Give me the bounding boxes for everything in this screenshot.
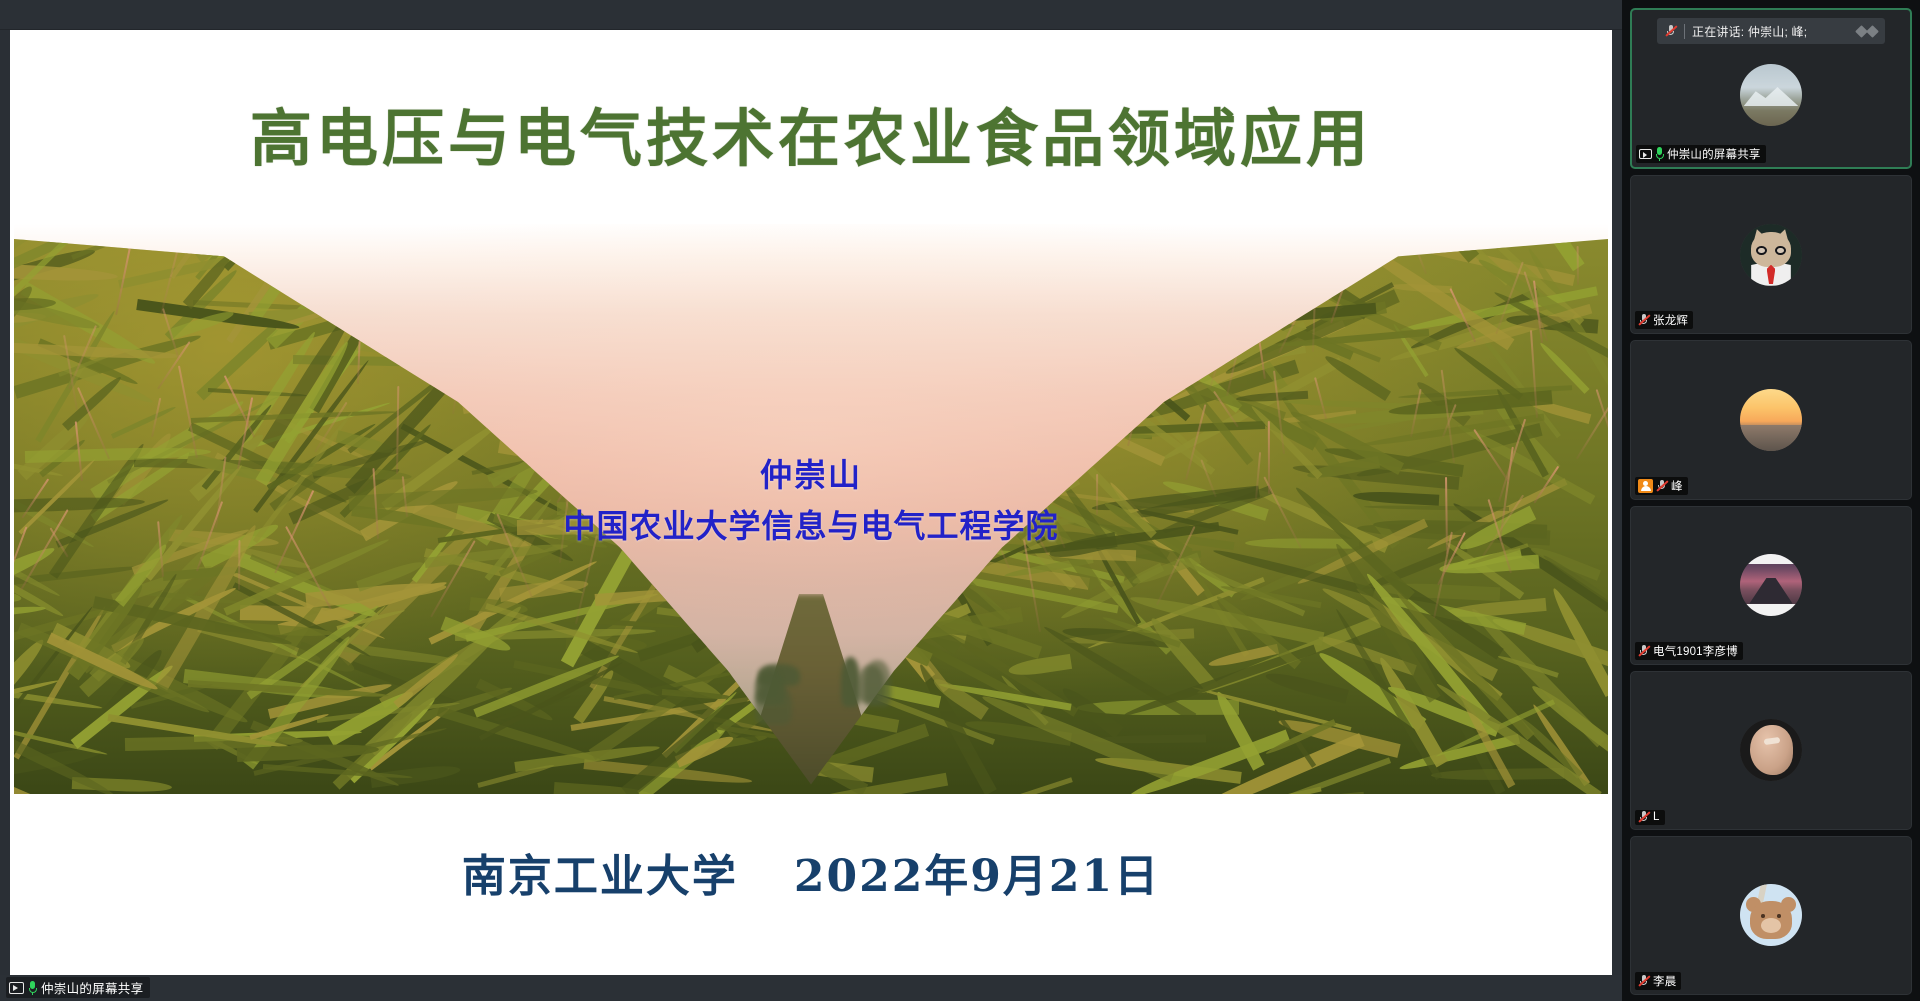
screenshare-icon <box>9 982 24 994</box>
slide-footer-place: 南京工业大学 <box>462 851 738 902</box>
mic-on-icon <box>1655 147 1664 161</box>
participant-tile-lichen[interactable]: 李晨 <box>1630 836 1912 995</box>
corn-tassel <box>1576 246 1578 285</box>
presenter-name: 仲崇山 <box>14 450 1608 496</box>
share-bottom-bar: 仲崇山的屏幕共享 <box>0 975 1622 1001</box>
mic-muted-icon <box>1638 975 1650 988</box>
mic-muted-icon <box>1638 314 1650 327</box>
banner-divider <box>1684 24 1685 39</box>
avatar <box>1740 389 1802 451</box>
participant-name: 电气1901李彦博 <box>1653 643 1738 659</box>
corn-leaf <box>1264 669 1349 704</box>
corn-tassel <box>1314 377 1327 419</box>
participant-nameplate: L <box>1635 810 1665 825</box>
avatar <box>1740 554 1802 616</box>
slide-footer-date: 2022年9月21日 <box>794 851 1160 902</box>
participant-name: 张龙辉 <box>1653 312 1688 328</box>
corn-leaf <box>1008 654 1073 678</box>
presenter-organization: 中国农业大学信息与电气工程学院 <box>14 501 1608 547</box>
host-icon <box>1638 479 1653 493</box>
corn-tassel <box>238 540 240 590</box>
mic-muted-icon <box>1656 479 1668 492</box>
active-speaker-label: 正在讲话: 仲崇山; 峰; <box>1692 23 1807 40</box>
teddy-bear-avatar <box>1740 884 1802 946</box>
avatar <box>1740 884 1802 946</box>
corn-leaf <box>1322 352 1391 401</box>
presentation-slide: 高电压与电气技术在农业食品领域应用 仲崇山 中国农业大学信息与电气工程学院 南京… <box>10 30 1612 975</box>
participant-name: 李晨 <box>1653 973 1676 989</box>
participant-name: 仲崇山的屏幕共享 <box>1667 146 1761 162</box>
zoom-meeting-window: 高电压与电气技术在农业食品领域应用 仲崇山 中国农业大学信息与电气工程学院 南京… <box>0 0 1920 1001</box>
participant-nameplate: 仲崇山的屏幕共享 <box>1636 145 1766 163</box>
participant-tile-zhanglonghui[interactable]: 张龙辉 <box>1630 175 1912 334</box>
person-head-avatar <box>1740 719 1802 781</box>
distant-tree <box>864 660 892 707</box>
mountain-avatar <box>1740 64 1802 126</box>
screen-share-status-label: 仲崇山的屏幕共享 <box>41 978 143 997</box>
corn-leaf <box>14 605 45 620</box>
shared-screen-region[interactable]: 高电压与电气技术在农业食品领域应用 仲崇山 中国农业大学信息与电气工程学院 南京… <box>0 0 1622 1001</box>
participant-filmstrip[interactable]: 正在讲话: 仲崇山; 峰; 仲崇山的屏幕共享 <box>1622 0 1920 1001</box>
participant-tile-zhongchongshan[interactable]: 正在讲话: 仲崇山; 峰; 仲崇山的屏幕共享 <box>1630 8 1912 169</box>
avatar <box>1740 64 1802 126</box>
cat-in-tie-avatar <box>1740 224 1802 286</box>
participant-nameplate: 电气1901李彦博 <box>1635 642 1743 660</box>
screen-share-status-badge: 仲崇山的屏幕共享 <box>6 977 150 998</box>
participant-nameplate: 张龙辉 <box>1635 311 1693 329</box>
participant-tile-feng[interactable]: 峰 <box>1630 340 1912 499</box>
mic-muted-icon <box>1638 811 1650 824</box>
mic-on-icon <box>28 981 37 995</box>
mic-muted-icon <box>1665 25 1677 38</box>
road-sunset-avatar <box>1740 554 1802 616</box>
avatar <box>1740 224 1802 286</box>
corn-field-photo: 仲崇山 中国农业大学信息与电气工程学院 <box>14 224 1608 794</box>
active-speaker-banner: 正在讲话: 仲崇山; 峰; <box>1657 18 1885 44</box>
participant-name: 峰 <box>1671 478 1683 494</box>
mic-muted-icon <box>1638 644 1650 657</box>
slide-footer: 南京工业大学2022年9月21日 <box>10 840 1612 904</box>
avatar <box>1740 719 1802 781</box>
participant-nameplate: 李晨 <box>1635 972 1681 990</box>
slide-title: 高电压与电气技术在农业食品领域应用 <box>10 88 1612 178</box>
share-top-toolbar[interactable] <box>0 0 1622 30</box>
distant-tree <box>755 672 784 705</box>
participant-nameplate: 峰 <box>1635 477 1688 495</box>
participant-tile-l[interactable]: L <box>1630 671 1912 830</box>
audio-wave-icon <box>1857 27 1877 36</box>
sunset-avatar <box>1740 389 1802 451</box>
participant-tile-liyanbo[interactable]: 电气1901李彦博 <box>1630 506 1912 665</box>
screenshare-icon <box>1639 149 1652 159</box>
participant-name: L <box>1653 811 1660 823</box>
